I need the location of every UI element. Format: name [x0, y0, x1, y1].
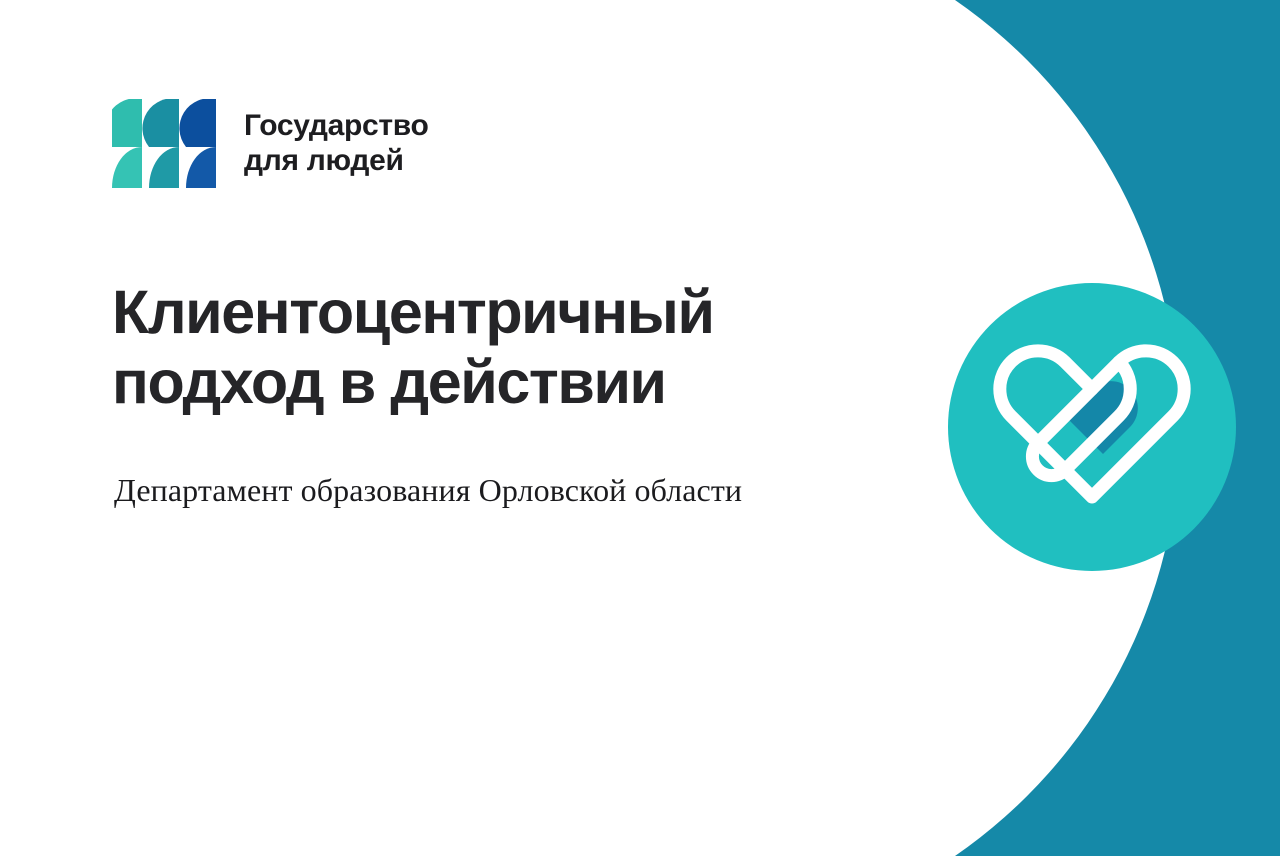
- emblem: [948, 283, 1236, 571]
- page-title: Клиентоцентричный подход в действии: [112, 278, 902, 417]
- page-subtitle: Департамент образования Орловской област…: [114, 470, 914, 510]
- gosuslugi-three-columns-logo-icon: [112, 99, 216, 188]
- title-slide: Государство для людей Клиентоцентричный …: [0, 0, 1280, 856]
- brand-logo: Государство для людей: [112, 99, 429, 188]
- interlocking-heart-icon: [948, 283, 1236, 571]
- brand-wordmark: Государство для людей: [244, 109, 429, 179]
